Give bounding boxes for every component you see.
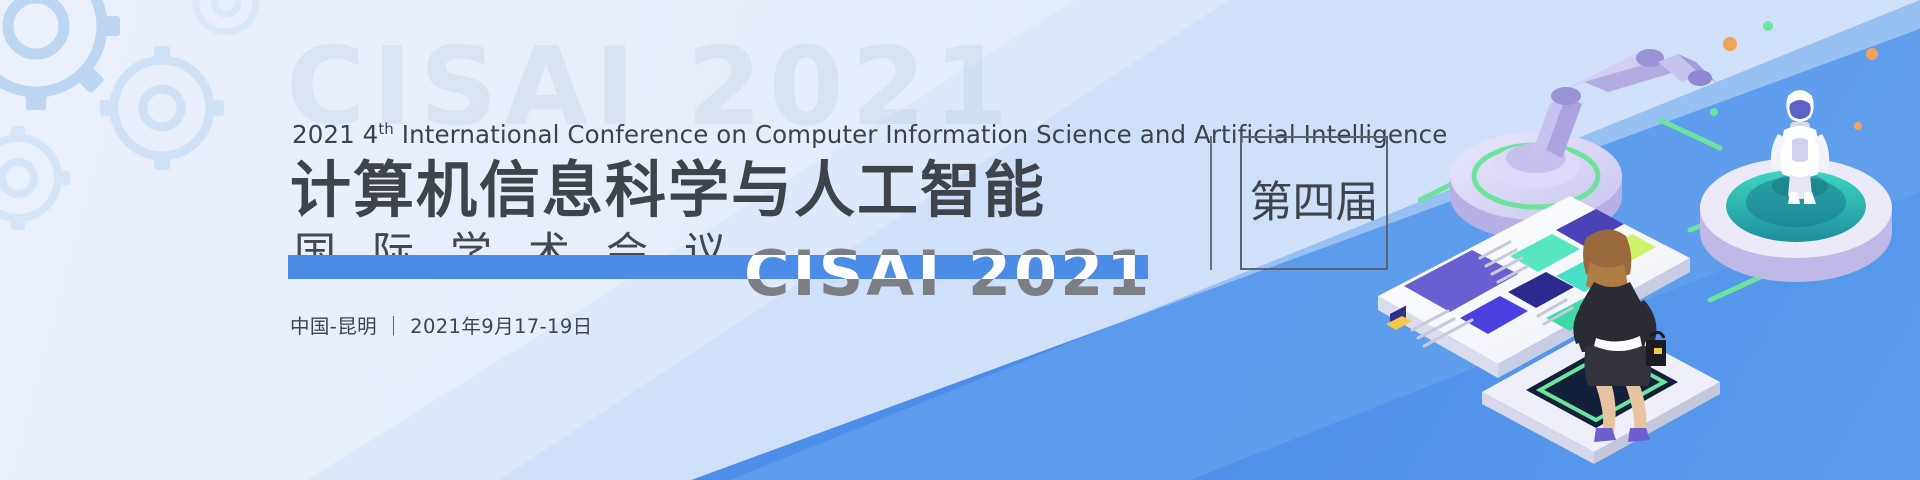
chinese-conference-title: 计算机信息科学与人工智能 — [290, 160, 1046, 221]
robot-arm-icon — [1530, 49, 1716, 158]
vertical-divider — [1210, 136, 1212, 270]
humanoid-robot-icon — [1771, 90, 1829, 204]
english-title-ordinal-suffix: th — [378, 120, 394, 138]
location-date-line: 中国-昆明 ｜ 2021年9月17-19日 — [290, 310, 593, 339]
isometric-illustration — [1360, 0, 1920, 480]
conference-banner: CISAI 2021 2021 4th International Confer… — [0, 0, 1920, 480]
english-title-prefix: 2021 4 — [292, 120, 378, 149]
gear-decoration-icon — [0, 0, 300, 260]
